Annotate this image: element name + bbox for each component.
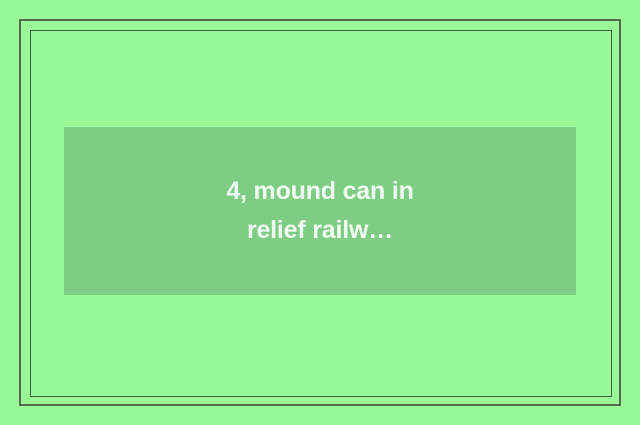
content-panel: 4, mound can in relief railw… — [64, 127, 576, 295]
panel-text-line-1: 4, mound can in — [64, 172, 576, 211]
card-canvas: 4, mound can in relief railw… — [0, 0, 640, 425]
panel-text-line-2: relief railw… — [64, 211, 576, 250]
